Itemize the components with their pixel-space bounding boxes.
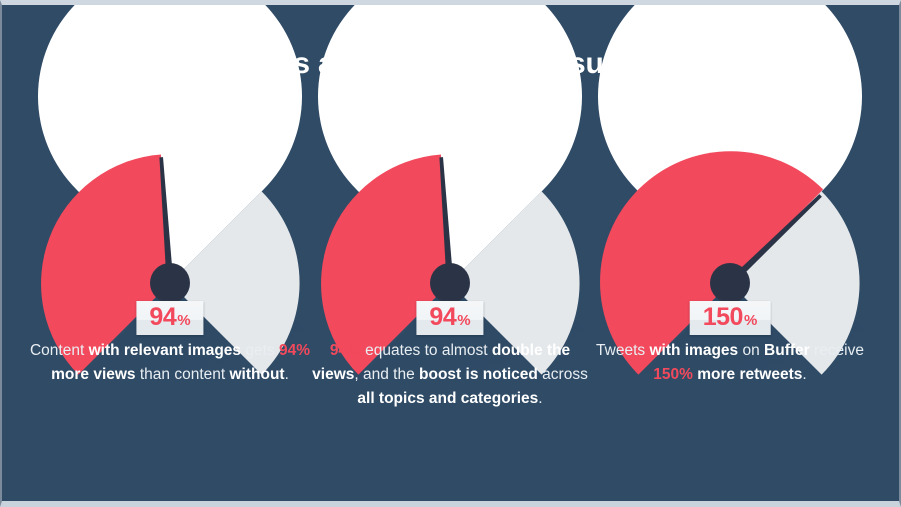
gauge-svg-3 [585, 133, 875, 328]
gauge-caption-1: Content with relevant images gets 94% mo… [25, 339, 315, 387]
gauge-value-badge-1: 94% [136, 301, 203, 335]
gauge-caption-2: 94% equates to almost double the views, … [305, 339, 595, 411]
infographic-canvas: Visuals are vital to online success. [0, 0, 901, 507]
gauge-panel-1: 94% Content with relevant images gets 94… [25, 133, 315, 463]
gauge-hub-3 [710, 263, 750, 303]
gauge-panel-3: 150% Tweets with images on Buffer receiv… [585, 133, 875, 463]
gauge-svg-2 [305, 133, 595, 328]
gauge-graphic-3: 150% [585, 133, 875, 328]
gauge-graphic-1: 94% [25, 133, 315, 328]
gauge-value-percent-3: % [744, 312, 757, 329]
gauge-caption-3: Tweets with images on Buffer receive 150… [585, 339, 875, 387]
gauge-hub-1 [150, 263, 190, 303]
gauge-graphic-2: 94% [305, 133, 595, 328]
gauge-value-badge-3: 150% [690, 301, 771, 335]
gauge-value-number-1: 94 [149, 303, 176, 331]
gauge-value-number-3: 150 [703, 303, 743, 331]
gauge-value-percent-1: % [177, 312, 190, 329]
gauge-value-percent-2: % [457, 312, 470, 329]
gauge-value-badge-2: 94% [416, 301, 483, 335]
gauge-panel-2: 94% 94% equates to almost double the vie… [305, 133, 595, 463]
gauge-svg-1 [25, 133, 315, 328]
gauge-value-number-2: 94 [429, 303, 456, 331]
gauge-hub-2 [430, 263, 470, 303]
